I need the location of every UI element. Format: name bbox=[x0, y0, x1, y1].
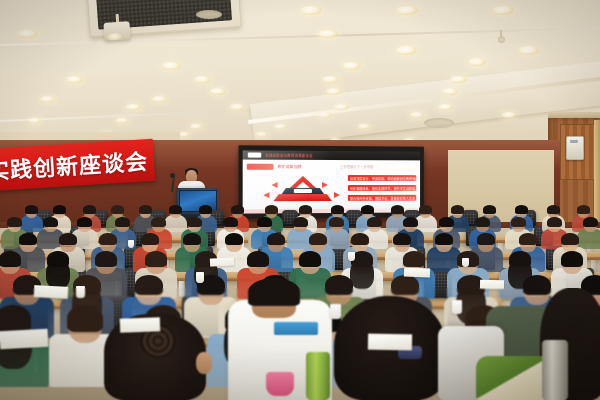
downlight-icon bbox=[116, 118, 129, 123]
pyramid-tier-top-inner bbox=[296, 182, 310, 188]
attendee-hair bbox=[265, 205, 278, 214]
pink-cup-icon bbox=[266, 372, 294, 396]
pyramid-arrow-left-lower bbox=[263, 192, 269, 198]
paper-cup bbox=[462, 258, 469, 267]
slide-section-tab bbox=[247, 164, 274, 170]
attendee-hair bbox=[561, 251, 583, 267]
attendee-hair bbox=[247, 251, 269, 267]
downlight-icon bbox=[396, 46, 417, 55]
slide-section-label-right: 工作思路与下一步举措 bbox=[340, 164, 373, 169]
attendee-hair bbox=[151, 217, 166, 227]
downlight-icon bbox=[66, 76, 83, 83]
pyramid-tier-bottom bbox=[273, 194, 332, 201]
downlight-icon bbox=[358, 124, 371, 129]
downlight-icon bbox=[162, 62, 181, 70]
attendee-hair bbox=[115, 217, 130, 227]
downlight-icon bbox=[194, 76, 211, 83]
attendee-hair bbox=[59, 233, 77, 245]
paper-cup bbox=[76, 286, 85, 298]
thermos-silver bbox=[542, 340, 568, 400]
downlight-icon bbox=[28, 118, 41, 123]
microphone-icon bbox=[170, 173, 175, 178]
attendee-hair bbox=[403, 251, 425, 267]
attendee-hair bbox=[351, 233, 369, 245]
desk-leg bbox=[179, 281, 184, 297]
slide-header-bar: 实践创新创业教育改革座谈会 bbox=[243, 150, 420, 160]
slide-section-label: 教学 成果 回顾 bbox=[278, 165, 302, 170]
downlight-icon bbox=[152, 96, 167, 102]
attendee-hair bbox=[19, 233, 37, 245]
attendee-hair bbox=[43, 217, 58, 227]
slide-bullet-bar: 优化课程体系，强化实践环节，提升学生创新能力 bbox=[348, 185, 416, 191]
ceiling-vent-icon bbox=[196, 10, 222, 19]
handout-paper bbox=[0, 329, 48, 349]
handout-paper bbox=[120, 317, 160, 332]
attendee-hair bbox=[53, 205, 66, 214]
downlight-icon bbox=[230, 104, 245, 110]
handout-paper bbox=[34, 285, 69, 299]
downlight-icon bbox=[326, 88, 342, 95]
downlight-icon bbox=[468, 58, 486, 66]
attendee-hair bbox=[331, 205, 344, 214]
slide-bullet-text: 整合校内外资源，搭建平台，营造良好育人生态 bbox=[350, 195, 415, 200]
attendee-hair bbox=[361, 205, 374, 214]
attendee-hair bbox=[111, 205, 124, 214]
attendee-hair bbox=[248, 278, 300, 306]
attendee-hair bbox=[169, 205, 182, 214]
paper-cup bbox=[348, 252, 355, 261]
downlight-icon bbox=[256, 132, 268, 137]
attendee-hair bbox=[523, 275, 551, 295]
ceiling-vent-icon bbox=[424, 118, 454, 128]
projector-lens bbox=[107, 33, 121, 41]
water-bottle-green bbox=[306, 352, 330, 400]
attendee-hair bbox=[83, 205, 96, 214]
attendee-hair bbox=[475, 217, 490, 227]
downlight-icon bbox=[190, 124, 203, 129]
downlight-icon bbox=[126, 104, 141, 110]
handout-paper bbox=[210, 257, 234, 266]
attendee-hair bbox=[187, 217, 202, 227]
slide-bullet-text: 加强顶层设计，完善机制，推动创新创业教育深度融合 bbox=[350, 176, 420, 181]
paper-cup bbox=[452, 300, 462, 314]
pyramid-arrow-left-upper bbox=[271, 182, 277, 188]
attendee-hair bbox=[95, 251, 117, 267]
paper-cup bbox=[196, 272, 204, 283]
attendee-hair bbox=[403, 217, 418, 227]
attendee-hair bbox=[325, 275, 353, 295]
handout-paper bbox=[368, 334, 412, 351]
attendee-hair bbox=[511, 217, 526, 227]
attendee-hair bbox=[391, 275, 419, 295]
paper-cup bbox=[330, 304, 341, 319]
attendee-hair bbox=[67, 305, 103, 332]
attendee-hair bbox=[419, 205, 432, 214]
downlight-icon bbox=[396, 6, 418, 15]
attendee-hair bbox=[561, 233, 579, 245]
attendee-hair bbox=[183, 233, 201, 245]
downlight-icon bbox=[334, 104, 349, 110]
downlight-icon bbox=[342, 62, 361, 70]
attendee-hair bbox=[393, 233, 411, 245]
downlight-icon bbox=[492, 6, 514, 15]
attendee-hair bbox=[547, 205, 560, 214]
attendee-ear bbox=[196, 352, 212, 374]
attendee-hair bbox=[223, 217, 238, 227]
attendee-hair bbox=[231, 205, 244, 214]
attendee-hair bbox=[99, 233, 117, 245]
attendee-hair bbox=[25, 205, 38, 214]
attendee-hair bbox=[577, 205, 590, 214]
downlight-icon bbox=[518, 46, 539, 55]
column-trim bbox=[594, 120, 600, 226]
attendee-hair bbox=[199, 205, 212, 214]
handout-paper bbox=[480, 280, 504, 289]
downlight-icon bbox=[274, 124, 287, 129]
handout-paper bbox=[404, 268, 430, 278]
attendee-hair bbox=[583, 217, 598, 227]
downlight-icon bbox=[438, 104, 453, 110]
downlight-icon bbox=[18, 30, 38, 38]
pyramid-arrow-right-upper bbox=[322, 182, 328, 188]
attendee-hair bbox=[435, 233, 453, 245]
attendee-hair bbox=[77, 217, 92, 227]
attendee-hair bbox=[519, 233, 537, 245]
attendee-hair bbox=[139, 205, 152, 214]
event-banner-text: 实践创新座谈会 bbox=[0, 144, 149, 186]
paper-cup bbox=[128, 240, 134, 248]
attendee-hair bbox=[267, 233, 285, 245]
projector-icon bbox=[103, 21, 130, 41]
downlight-icon bbox=[410, 112, 424, 118]
slide-bullet-text: 优化课程体系，强化实践环节，提升学生创新能力 bbox=[350, 185, 418, 190]
attendee-hair bbox=[7, 217, 22, 227]
attendee-long-hair bbox=[350, 259, 374, 289]
slide-bullet-bar: 加强顶层设计，完善机制，推动创新创业教育深度融合 bbox=[348, 175, 416, 181]
downlight-icon bbox=[450, 76, 467, 83]
attendee-hair bbox=[299, 251, 321, 267]
attendee-hair bbox=[515, 205, 528, 214]
attendee-hair bbox=[483, 205, 496, 214]
downlight-icon bbox=[502, 112, 516, 118]
discovery-logo-icon bbox=[274, 322, 318, 335]
attendee-hair bbox=[299, 205, 312, 214]
attendee-hair bbox=[439, 217, 454, 227]
attendee-hair bbox=[477, 233, 495, 245]
downlight-icon bbox=[318, 30, 338, 38]
conference-hall-photo: 实践创新座谈会 实践创新创业教育改革座谈会 教学 成果 回顾 工作思路与下一步举… bbox=[0, 0, 600, 400]
attendee-long-hair bbox=[46, 259, 70, 289]
downlight-icon bbox=[318, 112, 332, 118]
attendee-hair bbox=[257, 217, 272, 227]
attendee-hair bbox=[451, 205, 464, 214]
slide-header-title: 实践创新创业教育改革座谈会 bbox=[265, 153, 312, 158]
attendee-hair bbox=[135, 275, 163, 295]
attendee-hair bbox=[225, 233, 243, 245]
pyramid-tier-middle-label bbox=[294, 189, 312, 193]
attendee-hair bbox=[145, 251, 167, 267]
attendee-hair bbox=[367, 217, 382, 227]
attendee-hair bbox=[391, 205, 404, 214]
attendee-hair bbox=[309, 233, 327, 245]
attendee-hair bbox=[547, 217, 562, 227]
downlight-icon bbox=[40, 96, 55, 102]
wall-control-panel-display bbox=[570, 140, 578, 143]
downlight-icon bbox=[322, 76, 339, 83]
slide-logo-icon bbox=[248, 152, 261, 157]
attendee-hair bbox=[329, 217, 344, 227]
attendee-hair bbox=[293, 217, 308, 227]
attendee-hair bbox=[0, 251, 21, 267]
slide-bullet-bar: 整合校内外资源，搭建平台，营造良好育人生态 bbox=[348, 195, 416, 201]
pyramid-arrow-right-lower bbox=[334, 192, 340, 198]
downlight-icon bbox=[300, 6, 322, 15]
attendee-hair bbox=[141, 233, 159, 245]
sprinkler-icon bbox=[498, 36, 505, 43]
downlight-icon bbox=[210, 88, 226, 95]
downlight-icon bbox=[442, 88, 458, 95]
